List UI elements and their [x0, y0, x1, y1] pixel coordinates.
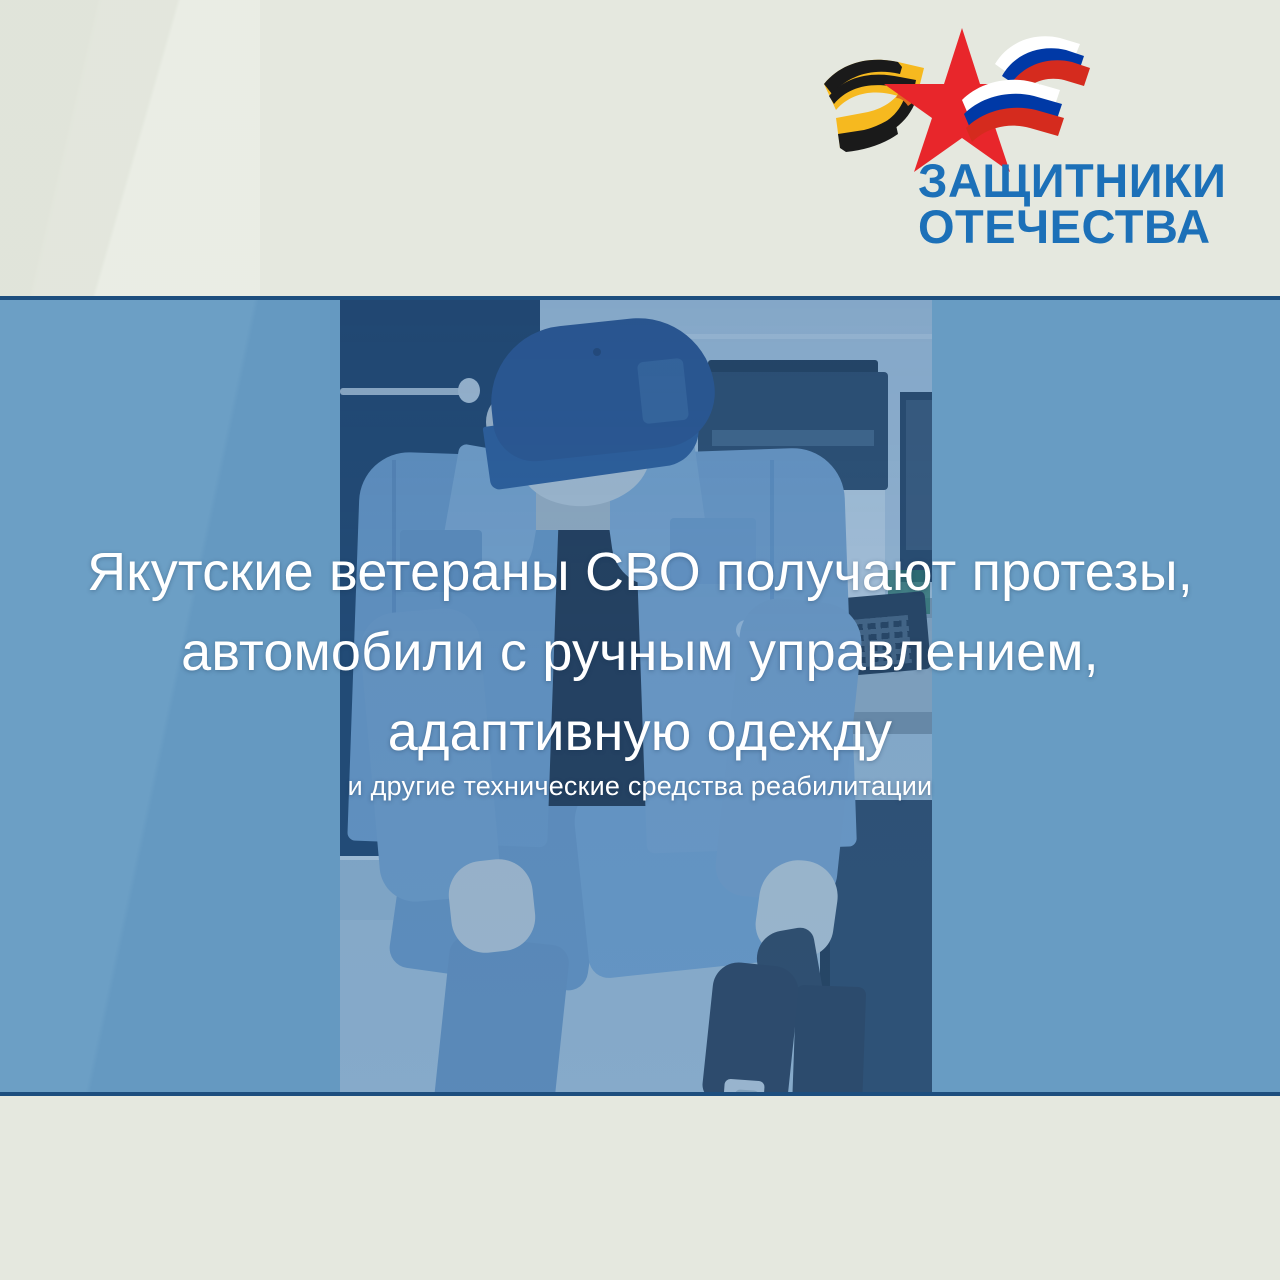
- logo-emblem: [812, 22, 1112, 172]
- main-banner: Якутские ветераны СВО получают протезы, …: [0, 296, 1280, 1096]
- logo-line-2: ОТЕЧЕСТВА: [918, 204, 1226, 250]
- zashchitniki-otechestva-logo: ЗАЩИТНИКИ ОТЕЧЕСТВА: [812, 22, 1252, 262]
- russian-tricolor-ribbon-icon: [962, 36, 1090, 142]
- logo-line-1: ЗАЩИТНИКИ: [918, 154, 1226, 207]
- banner-left-panel: [0, 300, 360, 1092]
- logo-wordmark: ЗАЩИТНИКИ ОТЕЧЕСТВА: [918, 158, 1226, 250]
- photo-blue-tint-overlay: [340, 300, 932, 1092]
- poster-canvas: ЗАЩИТНИКИ ОТЕЧЕСТВА: [0, 0, 1280, 1280]
- veteran-with-prosthetic-leg-photo: [340, 300, 932, 1092]
- st-george-ribbon-icon: [824, 60, 924, 152]
- background-diagonal-sheen-secondary: [0, 0, 300, 296]
